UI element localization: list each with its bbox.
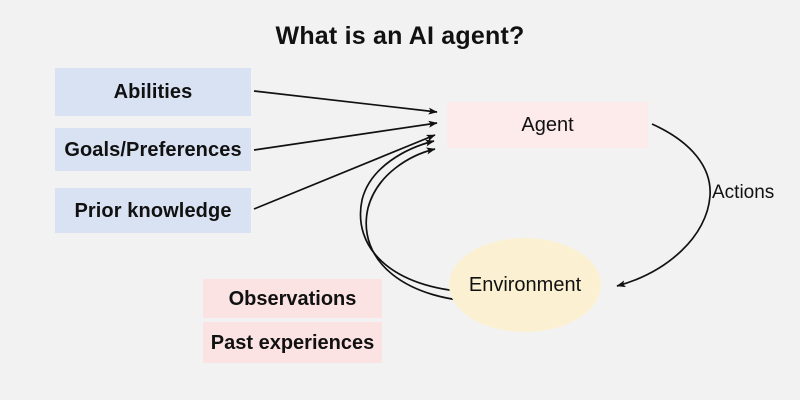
edge-agent-to-environment-actions (617, 124, 710, 286)
edge-goals-to-agent (254, 123, 437, 150)
node-agent[interactable]: Agent (447, 102, 648, 148)
node-environment[interactable]: Environment (449, 238, 601, 332)
node-environment-label: Environment (469, 274, 581, 296)
node-prior-knowledge[interactable]: Prior knowledge (55, 188, 251, 233)
diagram-canvas: What is an AI agent? Abilities Goals/Pre… (0, 0, 800, 400)
node-goals-preferences-label: Goals/Preferences (64, 139, 241, 161)
node-agent-label: Agent (521, 114, 573, 136)
edge-prior-knowledge-to-agent (254, 135, 435, 209)
node-abilities-label: Abilities (114, 81, 193, 103)
page-title: What is an AI agent? (0, 22, 800, 51)
node-goals-preferences[interactable]: Goals/Preferences (55, 128, 251, 171)
node-past-experiences-label: Past experiences (211, 332, 374, 354)
node-past-experiences[interactable]: Past experiences (203, 322, 382, 363)
edge-abilities-to-agent (254, 91, 437, 112)
node-abilities[interactable]: Abilities (55, 68, 251, 116)
node-observations-label: Observations (229, 288, 357, 310)
edge-label-actions: Actions (712, 182, 774, 204)
node-observations[interactable]: Observations (203, 279, 382, 318)
node-prior-knowledge-label: Prior knowledge (74, 200, 231, 222)
